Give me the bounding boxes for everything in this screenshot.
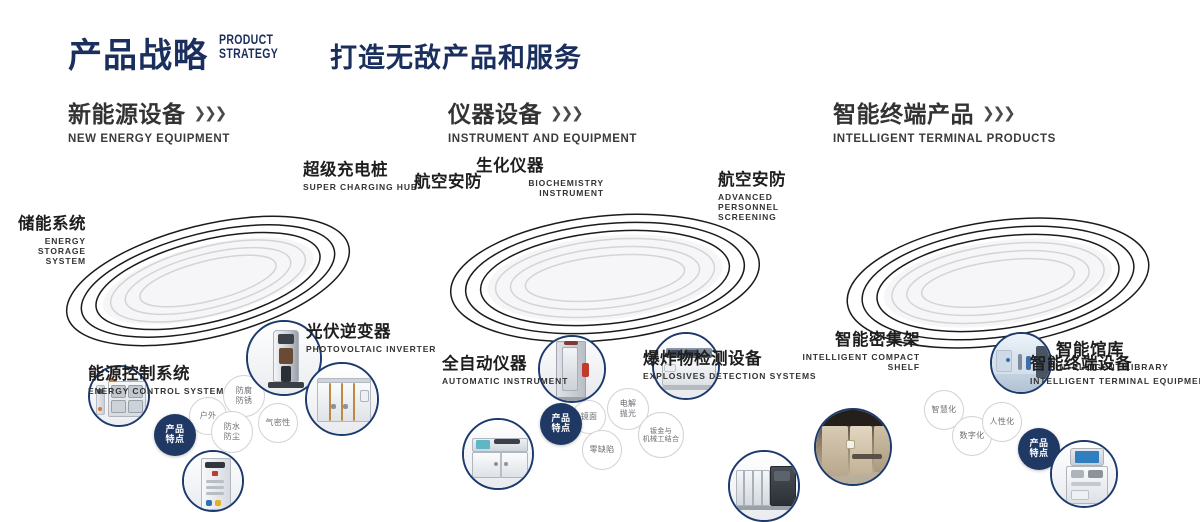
caption-cn: 智能密集架	[800, 326, 920, 350]
explosives-detector-photo	[730, 452, 798, 520]
caption-energy-control-system: 能源控制系统 ENERGY CONTROL SYSTEM	[88, 360, 224, 396]
caption-intelligent-compact-shelf: 智能密集架 INTELLIGENT COMPACT SHELF	[800, 326, 920, 372]
node-intelligent-terminal-equipment[interactable]	[1050, 440, 1118, 508]
feature-bubble-text: 防水防尘	[224, 422, 241, 442]
caption-cn: 生化仪器	[476, 152, 604, 176]
node-energy-control-system[interactable]	[182, 450, 244, 512]
caption-cn: 智能终端设备	[1030, 350, 1200, 374]
caption-cn: 航空安防	[718, 166, 813, 190]
section-title-cn: 新能源设备❯❯❯	[68, 95, 230, 129]
cluster-intelligent-terminal: 智慧化 数字化 人性化 产品特点	[800, 150, 1200, 412]
caption-automatic-instrument: 全自动仪器 AUTOMATIC INSTRUMENT	[442, 350, 568, 386]
caption-cn: 能源控制系统	[88, 360, 224, 384]
caption-cn: 储能系统	[0, 210, 86, 234]
automatic-analyzer-photo	[464, 420, 532, 488]
feature-bubble: 人性化	[982, 402, 1022, 442]
control-cabinet-photo	[184, 452, 242, 510]
page-title-en-line1: PRODUCT	[219, 33, 281, 47]
feature-bubble-text: 钣金与机械工结合	[643, 427, 680, 444]
caption-en: INTELLIGENT TERMINAL EQUIPMENT	[1030, 376, 1200, 386]
section-title-instrument: 仪器设备❯❯❯ INSTRUMENT AND EQUIPMENT	[448, 95, 637, 145]
feature-bubble: 气密性	[258, 403, 298, 443]
feature-bubble: 防水防尘	[211, 411, 253, 453]
caption-aviation-security-left: 航空安防	[414, 168, 482, 192]
cluster-instrument: 镜面 电解抛光 钣金与机械工结合 零缺陷 产品特点	[400, 150, 820, 412]
core-bubble-product-features: 产品特点	[540, 403, 582, 445]
section-title-cn: 仪器设备❯❯❯	[448, 95, 637, 129]
node-automatic-instrument[interactable]	[462, 418, 534, 490]
caption-en: BIOCHEMISTRY INSTRUMENT	[476, 178, 604, 198]
caption-en: EXPLOSIVES DETECTION SYSTEMS	[643, 371, 817, 381]
caption-energy-storage-system: 储能系统 ENERGY STORAGE SYSTEM	[0, 210, 86, 266]
caption-en: AUTOMATIC INSTRUMENT	[442, 376, 568, 386]
caption-en: ENERGY CONTROL SYSTEM	[88, 386, 224, 396]
page-title-en-line2: STRATEGY	[219, 47, 281, 61]
node-intelligent-compact-shelf[interactable]	[814, 408, 892, 486]
feature-bubble: 零缺陷	[582, 430, 622, 470]
section-title-en: NEW ENERGY EQUIPMENT	[68, 133, 230, 145]
page-header: 产品战略 PRODUCT STRATEGY 打造无敌产品和服务	[0, 0, 1200, 88]
caption-en: INTELLIGENT COMPACT SHELF	[800, 352, 920, 372]
section-title-cn: 智能终端产品❯❯❯	[833, 95, 1056, 129]
section-title-en: INSTRUMENT AND EQUIPMENT	[448, 133, 637, 145]
node-explosives-detection-systems[interactable]	[728, 450, 800, 522]
caption-intelligent-terminal-equipment: 智能终端设备 INTELLIGENT TERMINAL EQUIPMENT	[1030, 350, 1200, 386]
section-title-new-energy: 新能源设备❯❯❯ NEW ENERGY EQUIPMENT	[68, 95, 230, 145]
caption-biochemistry-instrument: 生化仪器 BIOCHEMISTRY INSTRUMENT	[476, 152, 604, 198]
chevron-right-icon: ❯❯❯	[194, 104, 226, 122]
page-title-cn: 产品战略	[68, 28, 208, 77]
caption-cn: 爆炸物检测设备	[643, 345, 817, 369]
caption-advanced-personnel-screening: 航空安防 ADVANCED PERSONNEL SCREENING	[718, 166, 813, 222]
core-bubble-product-features: 产品特点	[154, 414, 196, 456]
feature-bubble-text: 电解抛光	[620, 399, 637, 419]
node-photovoltaic-inverter[interactable]	[305, 362, 379, 436]
pv-inverter-photo	[307, 364, 377, 434]
caption-cn: 全自动仪器	[442, 350, 568, 374]
caption-en: ADVANCED PERSONNEL SCREENING	[718, 192, 813, 222]
chevron-right-icon: ❯❯❯	[550, 104, 582, 122]
smart-kiosk-photo	[1052, 442, 1116, 506]
page-title-en: PRODUCT STRATEGY	[219, 33, 281, 61]
page-subtitle: 打造无敌产品和服务	[330, 36, 582, 75]
caption-explosives-detection-systems: 爆炸物检测设备 EXPLOSIVES DETECTION SYSTEMS	[643, 345, 817, 381]
section-title-en: INTELLIGENT TERMINAL PRODUCTS	[833, 133, 1056, 145]
feature-bubble: 钣金与机械工结合	[638, 412, 684, 458]
caption-en: ENERGY STORAGE SYSTEM	[0, 236, 86, 266]
compact-shelf-photo	[816, 410, 890, 484]
cluster-new-energy: 户外 防腐防锈 防水防尘 气密性 产品特点	[0, 150, 420, 412]
chevron-right-icon: ❯❯❯	[982, 104, 1014, 122]
caption-cn: 航空安防	[414, 168, 482, 192]
section-title-intelligent-terminal: 智能终端产品❯❯❯ INTELLIGENT TERMINAL PRODUCTS	[833, 95, 1056, 145]
